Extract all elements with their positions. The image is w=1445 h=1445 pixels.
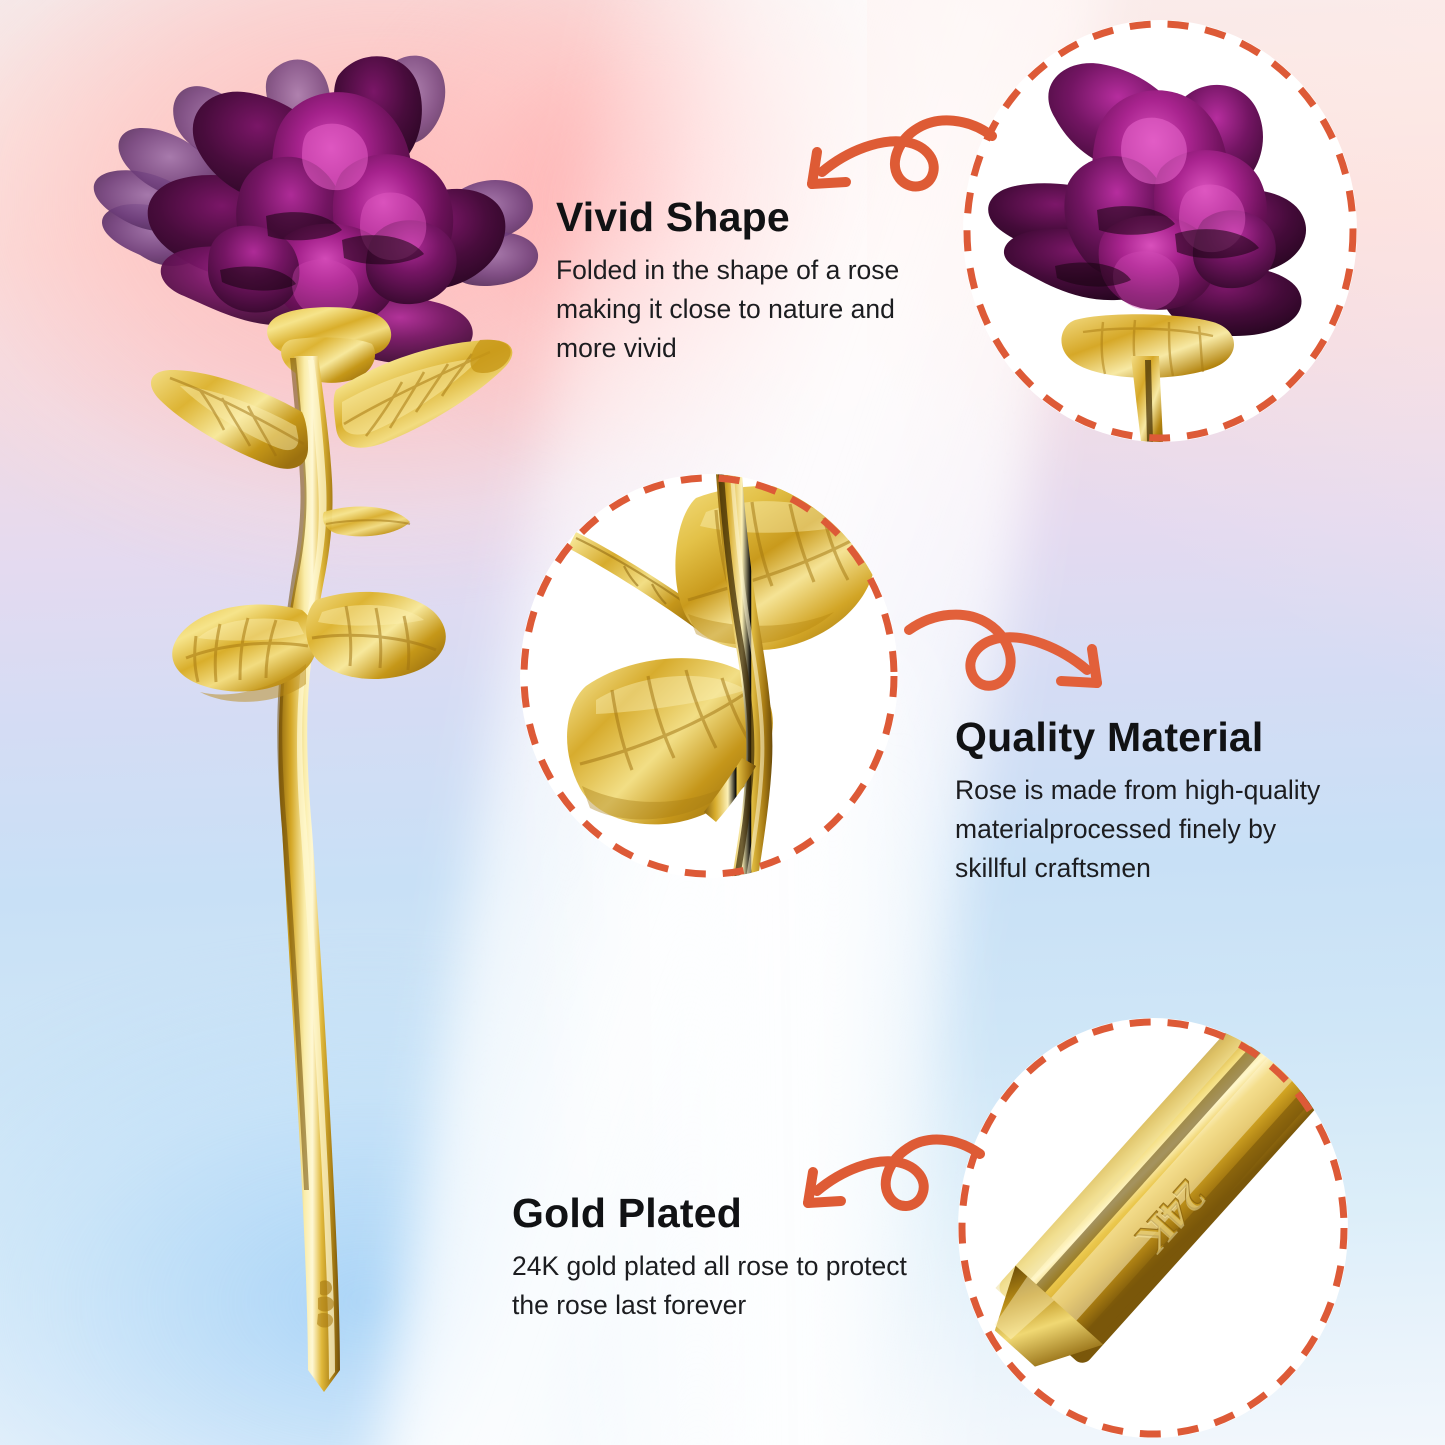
feature-body-line: the rose last forever	[512, 1286, 907, 1325]
curly-loop-arrow-right-quality	[905, 602, 1120, 720]
callout-leaf-closeup	[520, 474, 898, 878]
callout-leaf-photo	[520, 474, 898, 878]
leaf-closeup-illustration	[520, 474, 898, 878]
feature-block-quality-material: Quality Material Rose is made from high-…	[955, 716, 1320, 888]
rose-leaf-mid-right	[306, 592, 446, 679]
feature-body-gold-plated: 24K gold plated all rose to protect the …	[512, 1247, 907, 1324]
callout-stem-photo: 24K 24K	[958, 1018, 1348, 1438]
rose-leaf-mid-left	[172, 604, 317, 701]
feature-body-line: Rose is made from high-quality	[955, 771, 1320, 810]
feature-body-line: skillful craftsmen	[955, 849, 1320, 888]
callout-rose-closeup	[963, 20, 1357, 442]
infographic-canvas: 24K 24K	[0, 0, 1445, 1445]
rose-closeup-illustration	[963, 20, 1357, 442]
callout-rose-photo	[963, 20, 1357, 442]
feature-body-line: more vivid	[556, 329, 899, 368]
feature-block-vivid-shape: Vivid Shape Folded in the shape of a ros…	[556, 196, 899, 368]
feature-body-quality-material: Rose is made from high-quality materialp…	[955, 771, 1320, 887]
stem-closeup-illustration: 24K 24K	[958, 1018, 1348, 1438]
feature-block-gold-plated: Gold Plated 24K gold plated all rose to …	[512, 1192, 907, 1325]
feature-title-vivid-shape: Vivid Shape	[556, 196, 899, 239]
callout-stem-closeup: 24K 24K	[958, 1018, 1348, 1438]
closeup-gold-calyx	[1061, 314, 1234, 442]
feature-body-line: 24K gold plated all rose to protect	[512, 1247, 907, 1286]
feature-body-vivid-shape: Folded in the shape of a rose making it …	[556, 251, 899, 367]
feature-body-line: making it close to nature and	[556, 290, 899, 329]
rose-leaf-small-right	[323, 507, 410, 537]
feature-body-line: Folded in the shape of a rose	[556, 251, 899, 290]
rose-leaf-upper-left	[151, 370, 308, 469]
feature-title-quality-material: Quality Material	[955, 716, 1320, 759]
feature-body-line: materialprocessed finely by	[955, 810, 1320, 849]
feature-title-gold-plated: Gold Plated	[512, 1192, 907, 1235]
